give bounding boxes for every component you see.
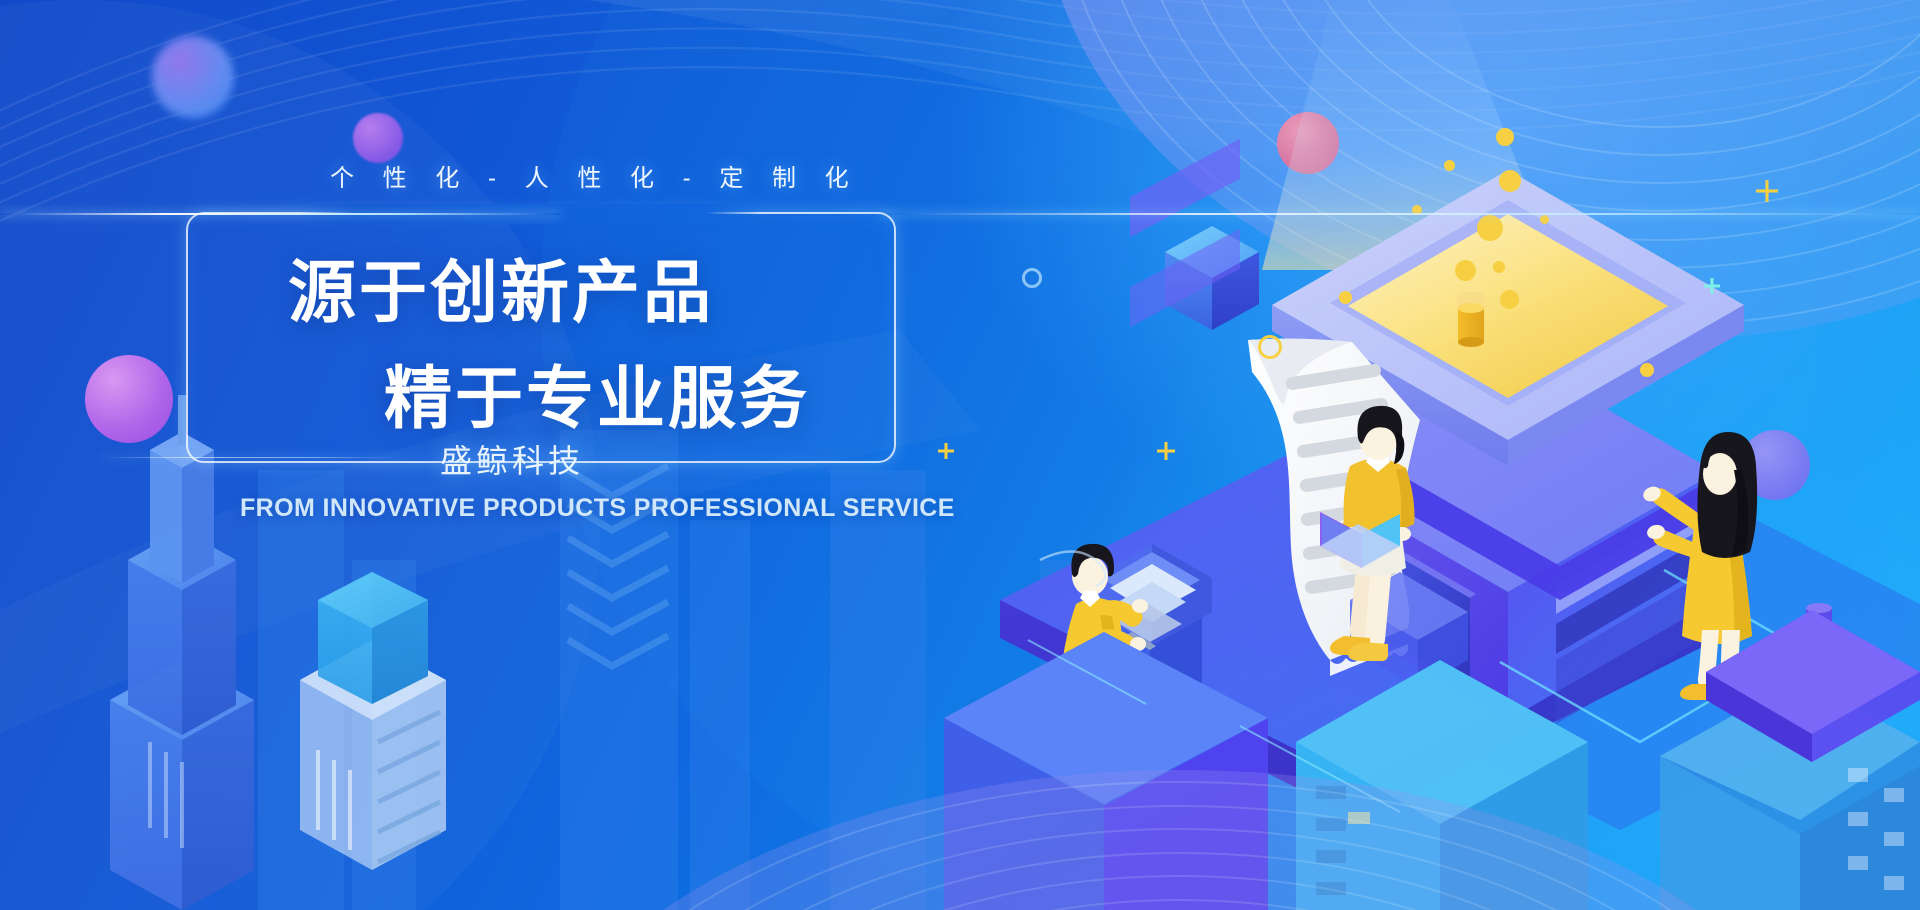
accent-dot-6 [1540, 215, 1549, 224]
accent-plus-1 [1157, 442, 1175, 460]
brand-name: 盛鲸科技 [440, 436, 584, 482]
accent-plus-4 [1704, 278, 1720, 294]
accent-dot-8 [1493, 261, 1505, 273]
light-beam [1262, 0, 1560, 270]
accent-dot-11 [1640, 363, 1654, 377]
hero-copy-block: 个 性 化 - 人 性 化 - 定 制 化 源于创新产品 精于专业服务 盛鲸科技… [0, 0, 960, 910]
violet-cylinder [1152, 593, 1176, 639]
man-at-kiosk-terminal [1060, 534, 1212, 790]
right-edge-building [1660, 610, 1920, 910]
accent-plus-3 [1756, 180, 1778, 202]
floating-cube [1165, 226, 1259, 330]
tagline: 个 性 化 - 人 性 化 - 定 制 化 [330, 158, 860, 193]
seated-woman-with-laptop [1320, 406, 1468, 688]
accent-dot-7 [1455, 260, 1476, 281]
accent-dot-10 [1339, 291, 1352, 304]
headline-line-2: 精于专业服务 [384, 343, 810, 442]
decorative-blob-pink-top-right [1277, 112, 1339, 174]
standing-woman-holding-paper [1641, 432, 1757, 700]
neon-accent-lines [1028, 640, 1400, 812]
violet-cylinder-2 [1806, 603, 1832, 647]
cable-curl [1040, 551, 1106, 586]
cyan-tower-right [1296, 660, 1588, 910]
accent-dot-9 [1500, 290, 1519, 309]
printed-paper-scroll [1248, 339, 1420, 676]
accent-dot-1 [1496, 128, 1514, 146]
accent-dot-2 [1444, 160, 1455, 171]
isometric-printer-machine [1272, 170, 1744, 724]
accent-dot-4 [1412, 205, 1422, 215]
accent-dot-5 [1477, 215, 1503, 241]
foreground-building-blocks [944, 139, 1268, 910]
accent-ring-2 [1022, 268, 1042, 288]
accent-dot-3 [1499, 170, 1521, 192]
light-streak-right [880, 213, 1920, 215]
headline-frame-top-gap [300, 204, 760, 224]
yellow-cylinder [1458, 292, 1484, 347]
arrow-slab [1392, 462, 1742, 600]
platform-base [1000, 418, 1920, 830]
decorative-blob-violet-right [1740, 430, 1810, 500]
english-subtitle: FROM INNOVATIVE PRODUCTS PROFESSIONAL SE… [240, 494, 955, 523]
accent-ring-1 [1258, 335, 1282, 359]
banner-hero: 个 性 化 - 人 性 化 - 定 制 化 源于创新产品 精于专业服务 盛鲸科技… [0, 0, 1920, 910]
headline-line-1: 源于创新产品 [288, 237, 714, 336]
